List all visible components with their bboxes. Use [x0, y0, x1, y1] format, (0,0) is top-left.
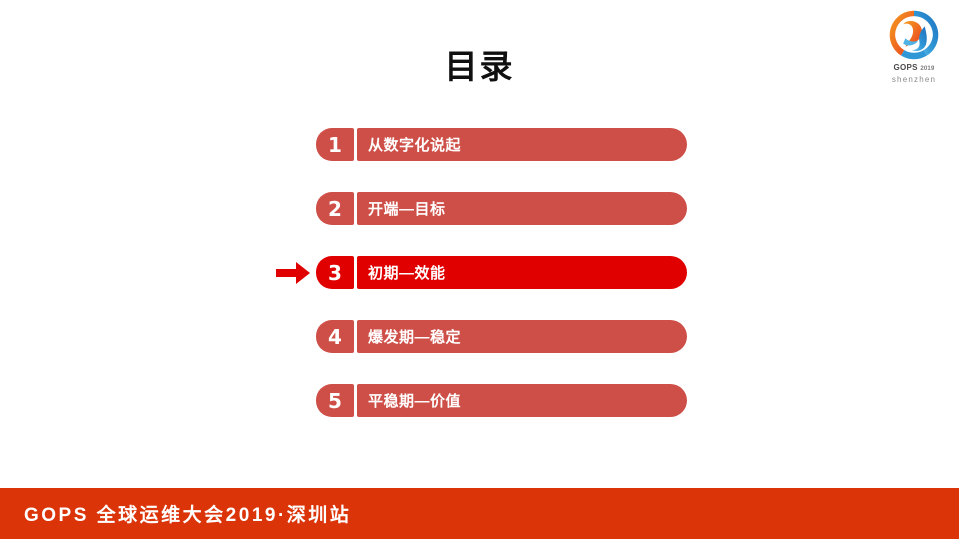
toc-item-2[interactable]: 2 开端—目标	[0, 192, 959, 225]
toc-number-badge: 2	[316, 192, 354, 225]
toc-bar[interactable]: 爆发期—稳定	[357, 320, 687, 353]
footer-bar: GOPS 全球运维大会2019·深圳站	[0, 488, 959, 539]
toc-item-5[interactable]: 5 平稳期—价值	[0, 384, 959, 417]
toc-item-4[interactable]: 4 爆发期—稳定	[0, 320, 959, 353]
toc-item-label: 从数字化说起	[357, 134, 461, 155]
toc-bar[interactable]: 平稳期—价值	[357, 384, 687, 417]
toc-list: 1 从数字化说起 2 开端—目标 3 初期—效能	[0, 128, 959, 417]
toc-item-label: 开端—目标	[357, 198, 446, 219]
toc-item-label: 初期—效能	[357, 262, 446, 283]
toc-item-label: 爆发期—稳定	[357, 326, 461, 347]
toc-number-badge: 3	[316, 256, 354, 289]
footer-text: GOPS 全球运维大会2019·深圳站	[0, 500, 351, 527]
toc-item-3[interactable]: 3 初期—效能	[0, 256, 959, 289]
slide-canvas: GOPS 2019 shenzhen 目录 1 从数字化说起 2 开端—目标	[0, 0, 959, 539]
toc-bar[interactable]: 从数字化说起	[357, 128, 687, 161]
toc-number-badge: 1	[316, 128, 354, 161]
toc-number-badge: 5	[316, 384, 354, 417]
toc-bar[interactable]: 开端—目标	[357, 192, 687, 225]
right-arrow-icon	[276, 262, 310, 284]
toc-bar[interactable]: 初期—效能	[357, 256, 687, 289]
toc-item-1[interactable]: 1 从数字化说起	[0, 128, 959, 161]
toc-item-label: 平稳期—价值	[357, 390, 461, 411]
page-title: 目录	[0, 46, 959, 88]
toc-number-badge: 4	[316, 320, 354, 353]
